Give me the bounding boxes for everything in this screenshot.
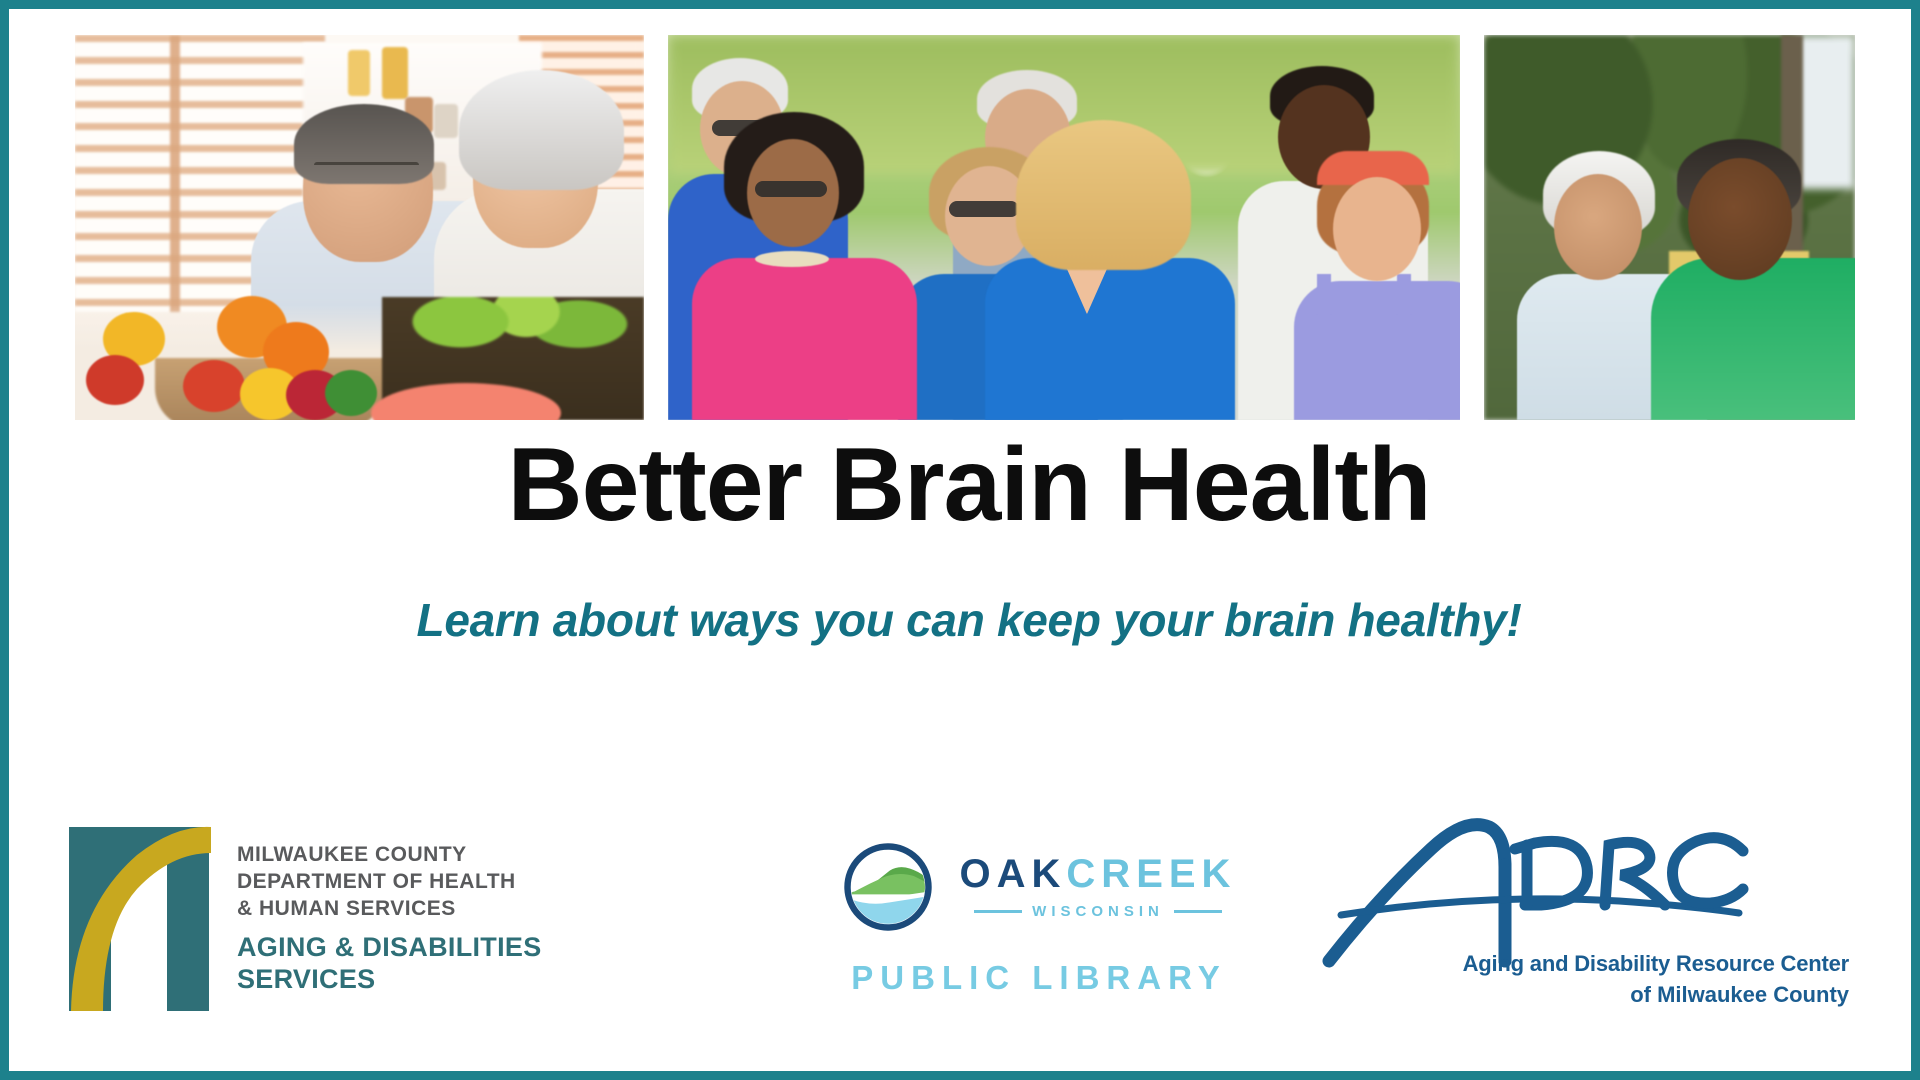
logo-milwaukee-county-dhhs: MILWAUKEE COUNTY DEPARTMENT OF HEALTH & … <box>59 819 759 1019</box>
sunglasses-icon <box>755 181 827 197</box>
mke-line-2: DEPARTMENT OF HEALTH <box>237 869 542 896</box>
shelf-jar <box>434 104 458 138</box>
tomato <box>86 355 144 405</box>
shelf-jar <box>348 50 370 96</box>
partner-logo-row: MILWAUKEE COUNTY DEPARTMENT OF HEALTH & … <box>59 794 1879 1044</box>
woman-head <box>1554 174 1642 280</box>
state-label: WISCONSIN <box>1032 903 1164 920</box>
mke-line-3: & HUMAN SERVICES <box>237 896 542 923</box>
tank-strap <box>1397 274 1411 314</box>
walker-front-right-head <box>1333 177 1421 281</box>
rule-right <box>1174 910 1222 913</box>
walker-center-woman-hair <box>1016 120 1191 270</box>
oak-creek-name: OAKCREEK <box>960 854 1237 894</box>
walker-front-left-torso <box>692 258 917 420</box>
man-torso <box>1651 258 1855 420</box>
photo-strip <box>75 35 1855 420</box>
rule-left <box>974 910 1022 913</box>
milwaukee-county-m-mark-icon <box>59 819 219 1019</box>
oak-creek-circle-emblem-icon <box>842 841 934 933</box>
oak-creek-wordmark: OAKCREEK WISCONSIN <box>960 854 1237 920</box>
oak-word: OAK <box>960 852 1067 896</box>
woman-hair <box>459 70 624 190</box>
oak-creek-lockup: OAKCREEK WISCONSIN <box>842 841 1237 933</box>
public-library-label: PUBLIC LIBRARY <box>851 959 1226 997</box>
page-title: Better Brain Health <box>9 429 1920 541</box>
logo-oak-creek-public-library: OAKCREEK WISCONSIN PUBLIC LIBRARY <box>759 841 1319 997</box>
tank-strap <box>1317 274 1331 314</box>
mke-bold-line-1: AGING & DISABILITIES <box>237 932 542 964</box>
adrc-monogram-icon <box>1319 809 1759 974</box>
adrc-line-2: of Milwaukee County <box>1429 982 1849 1008</box>
photo-seniors-walking-outdoors <box>668 35 1460 420</box>
mke-line-1: MILWAUKEE COUNTY <box>237 842 542 869</box>
creek-word: CREEK <box>1066 852 1236 896</box>
mke-bold-line-2: SERVICES <box>237 964 542 996</box>
logo-adrc-milwaukee-county: Aging and Disability Resource Center of … <box>1319 809 1839 1029</box>
eyeglasses-icon <box>314 162 419 184</box>
photo-senior-couple-outdoors <box>1484 35 1855 420</box>
adrc-subtitle: Aging and Disability Resource Center of … <box>1429 951 1849 1008</box>
sky-patch <box>1796 35 1855 189</box>
walker-center-woman-torso <box>985 258 1235 420</box>
page-subtitle: Learn about ways you can keep your brain… <box>9 593 1920 647</box>
oak-creek-state-row: WISCONSIN <box>960 903 1237 920</box>
headline-block: Better Brain Health Learn about ways you… <box>9 429 1920 647</box>
milwaukee-county-wordmark: MILWAUKEE COUNTY DEPARTMENT OF HEALTH & … <box>237 842 542 996</box>
necklace <box>755 251 829 267</box>
photo-senior-couple-preparing-vegetables <box>75 35 644 420</box>
man-head <box>1688 158 1792 280</box>
adrc-line-1: Aging and Disability Resource Center <box>1429 951 1849 977</box>
sunglasses-icon <box>949 201 1019 217</box>
flyer-page: Better Brain Health Learn about ways you… <box>0 0 1920 1080</box>
shelf-jar <box>382 47 408 99</box>
